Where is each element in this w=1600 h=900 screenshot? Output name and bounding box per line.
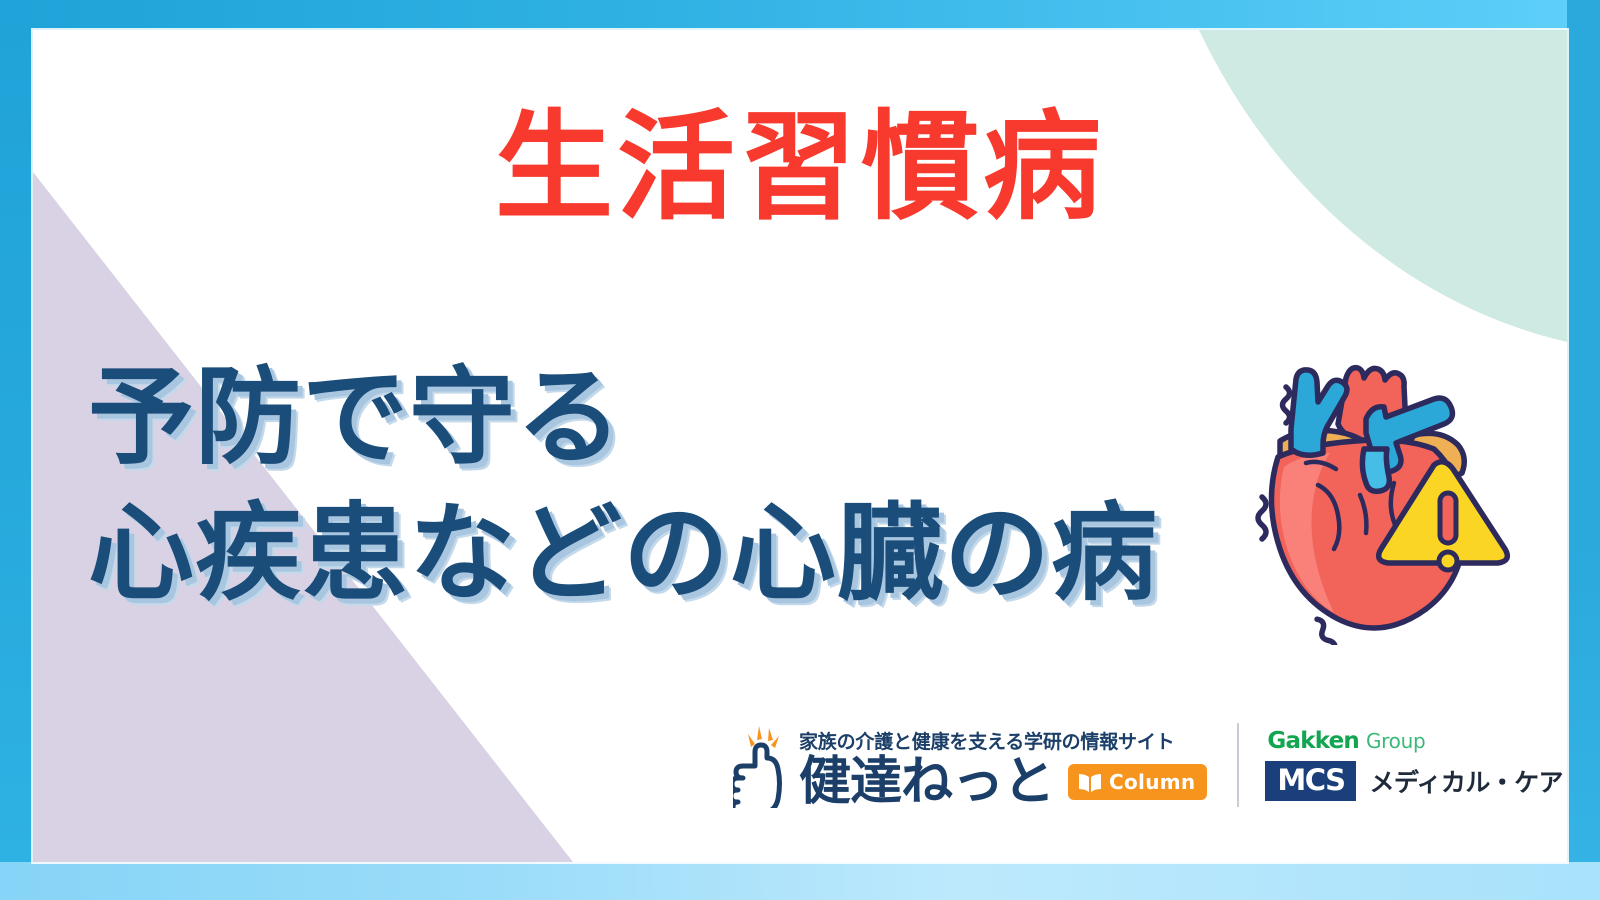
book-icon bbox=[1077, 773, 1103, 792]
category-title: 生活習慣病 bbox=[33, 98, 1567, 237]
mcs-abbrev-badge: MCS bbox=[1265, 761, 1356, 801]
heart-illustration bbox=[1218, 345, 1518, 645]
shake-mark-bottom bbox=[1314, 618, 1337, 645]
column-badge[interactable]: Column bbox=[1068, 764, 1207, 800]
heart-vessel-branch bbox=[1362, 449, 1389, 491]
headline-block: 予防で守る 心疾患などの心臓の病 bbox=[88, 350, 1238, 621]
kendatsu-brand-row: 健達ねっと Column bbox=[799, 756, 1207, 808]
warning-exclamation-dot bbox=[1439, 552, 1457, 570]
frame-border-left bbox=[0, 0, 33, 900]
shake-mark-top bbox=[1283, 387, 1290, 423]
frame-border-right bbox=[1567, 0, 1600, 900]
thumbs-up-icon bbox=[733, 722, 789, 808]
banner-root: 生活習慣病 予防で守る 心疾患などの心臓の病 bbox=[0, 0, 1600, 900]
banner-canvas: 生活習慣病 予防で守る 心疾患などの心臓の病 bbox=[33, 30, 1567, 862]
kendatsu-brand-name: 健達ねっと bbox=[799, 756, 1054, 808]
mcs-logo-group[interactable]: Gakken Group MCS メディカル・ケア・サービス bbox=[1265, 730, 1567, 801]
footer-divider bbox=[1237, 723, 1239, 807]
gakken-wordmark: Gakken bbox=[1267, 730, 1359, 753]
kendatsu-text-block: 家族の介護と健康を支える学研の情報サイト 健達ねっと Column bbox=[799, 727, 1207, 808]
mcs-logo-row: MCS メディカル・ケア・サービス bbox=[1265, 761, 1567, 801]
column-badge-label: Column bbox=[1109, 770, 1195, 794]
kendatsu-tagline: 家族の介護と健康を支える学研の情報サイト bbox=[799, 727, 1207, 754]
gakken-group-label: Group bbox=[1366, 731, 1425, 751]
shake-mark-left bbox=[1258, 497, 1266, 539]
warning-exclamation-bar bbox=[1440, 493, 1456, 543]
footer-logo-row: 家族の介護と健康を支える学研の情報サイト 健達ねっと Column bbox=[733, 722, 1567, 808]
mcs-full-name: メディカル・ケア・サービス bbox=[1369, 763, 1567, 799]
headline-line-1: 予防で守る bbox=[88, 350, 1238, 486]
frame-border-bottom bbox=[0, 862, 1600, 900]
kendatsu-logo[interactable]: 家族の介護と健康を支える学研の情報サイト 健達ねっと Column bbox=[733, 722, 1207, 808]
headline-line-2: 心疾患などの心臓の病 bbox=[88, 486, 1238, 622]
frame-border-top bbox=[0, 0, 1600, 30]
gakken-group-logo: Gakken Group bbox=[1265, 730, 1567, 753]
